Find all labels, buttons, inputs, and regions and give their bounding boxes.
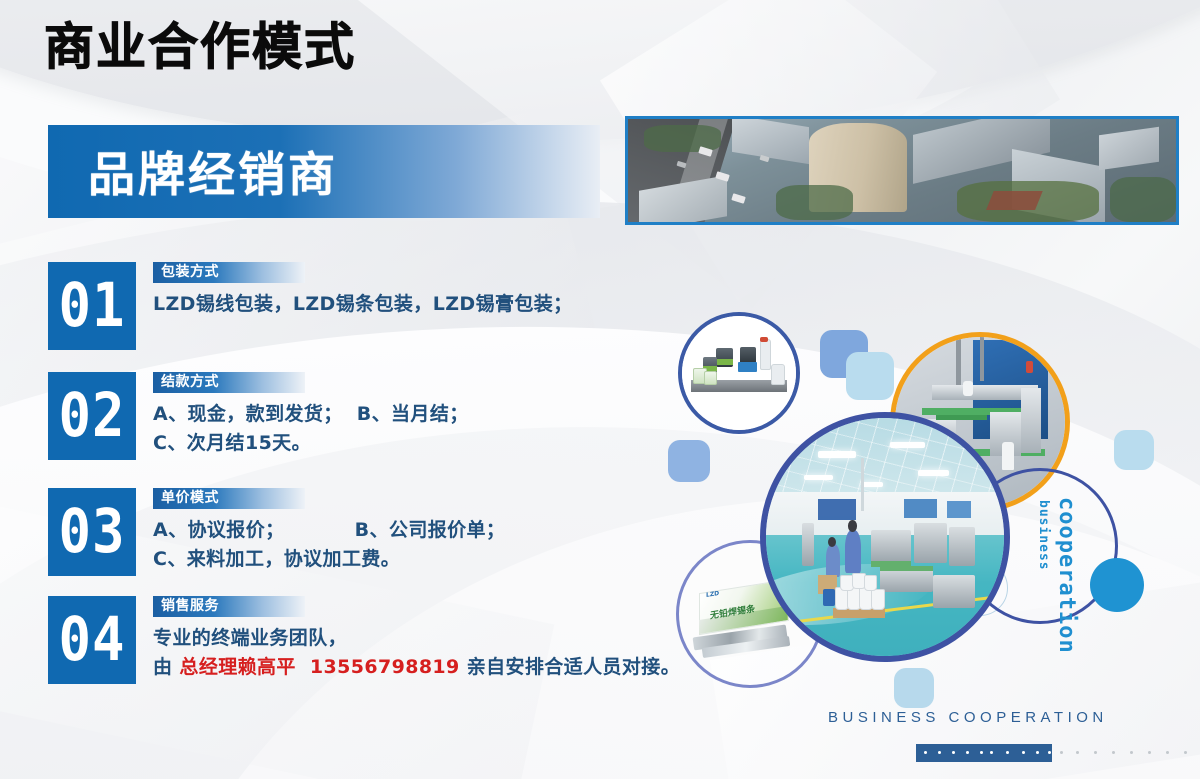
item-number: 03 (58, 502, 125, 562)
decor-square-blue (820, 330, 868, 378)
item-line-contact: 由 总经理赖高平 13556798819 亲自安排合适人员对接。 (153, 653, 680, 682)
decor-square-blue-small (668, 440, 710, 482)
page-title: 商业合作模式 (44, 22, 356, 72)
item-tag: 包装方式 (153, 262, 305, 283)
poster-canvas: 商业合作模式 品牌经销商 (0, 0, 1200, 779)
solder-box-circle: LZD 无铅焊锡条 (676, 540, 824, 688)
item-lines: A、协议报价； B、公司报价单； C、来料加工，协议加工费。 (153, 516, 505, 574)
decor-faint-circle (952, 560, 1008, 616)
vertical-label-business: business (1036, 500, 1051, 571)
item-number: 04 (58, 610, 125, 670)
item-line: C、来料加工，协议加工费。 (153, 545, 505, 574)
vertical-label-cooperation: cooperation (1054, 497, 1079, 654)
item-body: 销售服务 专业的终端业务团队， 由 总经理赖高平 13556798819 亲自安… (153, 596, 680, 682)
item-tag-label: 单价模式 (161, 490, 219, 506)
machine-photo-circle (890, 332, 1070, 512)
decor-blue-dot (1090, 558, 1144, 612)
item-tag: 结款方式 (153, 372, 305, 393)
decor-square-cyan (846, 352, 894, 400)
product-photo-circle (678, 312, 800, 434)
item-tag: 单价模式 (153, 488, 305, 509)
item-body: 单价模式 A、协议报价； B、公司报价单； C、来料加工，协议加工费。 (153, 488, 505, 574)
item-body: 包装方式 LZD锡线包装，LZD锡条包装，LZD锡膏包装； (153, 262, 573, 319)
decor-square-cyan-right (1114, 430, 1154, 470)
contact-suffix: 亲自安排合适人员对接。 (460, 656, 680, 678)
item-number: 01 (58, 276, 125, 336)
item-number-badge: 02 (48, 372, 136, 460)
headline-text: 品牌经销商 (88, 136, 338, 205)
item-line: A、现金，款到发货； B、当月结； (153, 400, 469, 429)
item-line: 专业的终端业务团队， (153, 624, 680, 653)
item-tag: 销售服务 (153, 596, 305, 617)
factory-photo-circle (760, 412, 1010, 662)
item-number-badge: 01 (48, 262, 136, 350)
item-tag-label: 包装方式 (161, 264, 219, 280)
item-lines: 专业的终端业务团队， 由 总经理赖高平 13556798819 亲自安排合适人员… (153, 624, 680, 682)
decor-square-cyan-bottom (894, 668, 934, 708)
item-body: 结款方式 A、现金，款到发货； B、当月结； C、次月结15天。 (153, 372, 469, 458)
footer-dot-bar-extension (1056, 744, 1188, 762)
item-tag-label: 销售服务 (161, 598, 219, 614)
item-number-badge: 04 (48, 596, 136, 684)
item-number: 02 (58, 386, 125, 446)
contact-prefix: 由 (153, 656, 179, 678)
item-line: LZD锡线包装，LZD锡条包装，LZD锡膏包装； (153, 290, 573, 319)
footer-dot-bar (916, 744, 1052, 762)
item-lines: LZD锡线包装，LZD锡条包装，LZD锡膏包装； (153, 290, 573, 319)
footer-label: BUSINESS COOPERATION (828, 709, 1108, 726)
item-line: C、次月结15天。 (153, 429, 469, 458)
item-tag-label: 结款方式 (161, 374, 219, 390)
contact-highlight: 总经理赖高平 13556798819 (179, 656, 459, 678)
decor-navy-ring (962, 468, 1118, 624)
item-lines: A、现金，款到发货； B、当月结； C、次月结15天。 (153, 400, 469, 458)
headline-banner: 品牌经销商 (48, 125, 600, 218)
aerial-campus-image (625, 116, 1179, 225)
item-number-badge: 03 (48, 488, 136, 576)
item-line: A、协议报价； B、公司报价单； (153, 516, 505, 545)
